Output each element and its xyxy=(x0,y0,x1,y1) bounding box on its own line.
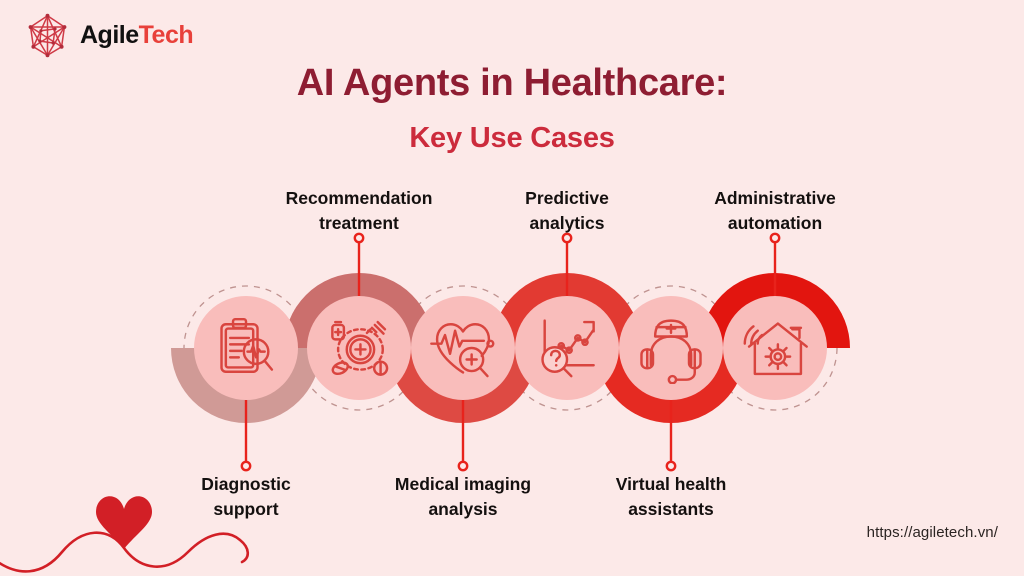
connector-dot xyxy=(242,462,250,470)
connector-dot xyxy=(459,462,467,470)
label-item-1: Diagnostic support xyxy=(166,472,326,522)
node-circle xyxy=(411,296,515,400)
node-circle xyxy=(619,296,723,400)
label-item-2: Recommendation treatment xyxy=(264,186,454,236)
label-item-4: Predictive analytics xyxy=(487,186,647,236)
label-item-6: Administrative automation xyxy=(695,186,855,236)
website-url[interactable]: https://agiletech.vn/ xyxy=(867,524,998,541)
label-item-5: Virtual health assistants xyxy=(591,472,751,522)
label-item-3: Medical imaging analysis xyxy=(378,472,548,522)
node-circle xyxy=(307,296,411,400)
infographic-canvas: AgileTech AI Agents in Healthcare: Key U… xyxy=(0,0,1024,576)
node-circle xyxy=(723,296,827,400)
heart-icon xyxy=(96,496,152,549)
connector-dot xyxy=(667,462,675,470)
node-circle xyxy=(194,296,298,400)
